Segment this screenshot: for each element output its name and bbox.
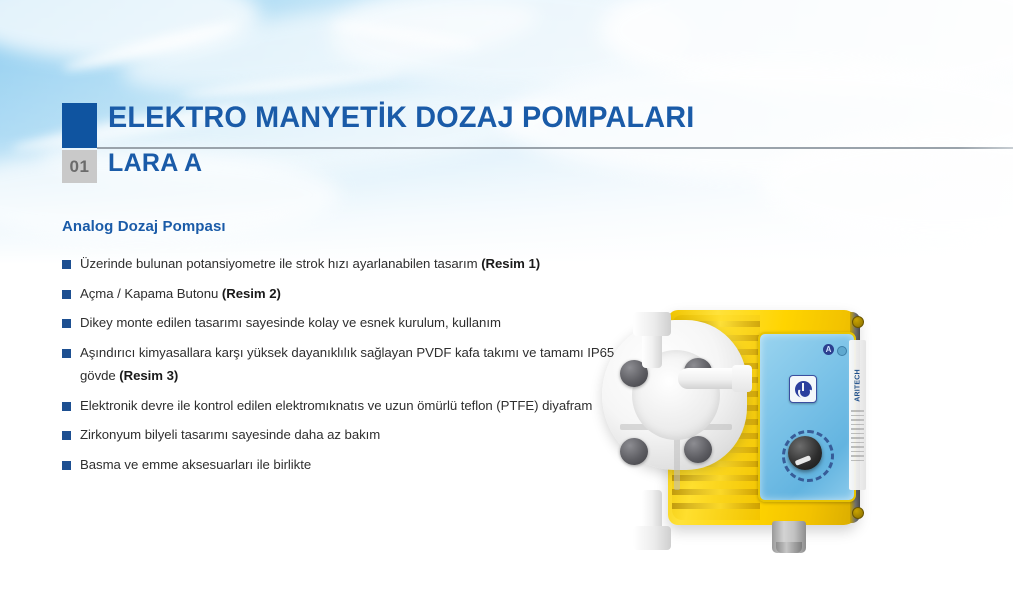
- product-model-title: LARA A: [108, 149, 202, 178]
- head-bolt: [620, 438, 648, 465]
- list-item: Elektronik devre ile kontrol edilen elek…: [62, 395, 622, 418]
- dosing-pump-photo: A ARITECH: [600, 285, 900, 570]
- label-spec-lines: [851, 410, 864, 464]
- list-item-emphasis: (Resim 3): [119, 368, 178, 383]
- auto-mode-led-icon: A: [823, 344, 834, 355]
- stroke-rate-knob[interactable]: [788, 436, 822, 470]
- list-item: Aşındırıcı kimyasallara karşı yüksek day…: [62, 342, 622, 387]
- list-item-text: Üzerinde bulunan potansiyometre ile stro…: [80, 256, 481, 271]
- brand-label-text: ARITECH: [855, 366, 862, 406]
- list-item: Basma ve emme aksesuarları ile birlikte: [62, 454, 622, 477]
- list-item: Zirkonyum bilyeli tasarımı sayesinde dah…: [62, 424, 622, 447]
- control-panel: A: [758, 332, 856, 502]
- list-item-text: Dikey monte edilen tasarımı sayesinde ko…: [80, 315, 501, 330]
- page-title: ELEKTRO MANYETİK DOZAJ POMPALARI: [108, 101, 694, 135]
- list-item: Üzerinde bulunan potansiyometre ile stro…: [62, 253, 622, 276]
- list-item-emphasis: (Resim 2): [222, 286, 281, 301]
- status-led-icon: [837, 346, 847, 356]
- list-item-text: Açma / Kapama Butonu: [80, 286, 222, 301]
- product-side-label: ARITECH: [849, 340, 866, 490]
- header-accent-square: [62, 103, 97, 148]
- list-item-text: Elektronik devre ile kontrol edilen elek…: [80, 398, 592, 413]
- head-bolt: [684, 436, 712, 463]
- power-button[interactable]: [789, 375, 817, 403]
- feature-list: Üzerinde bulunan potansiyometre ile stro…: [62, 253, 622, 484]
- discharge-port-cap: [633, 312, 671, 336]
- cable-gland: [772, 521, 806, 553]
- bleed-port-cap: [732, 365, 752, 392]
- list-item-text: Basma ve emme aksesuarları ile birlikte: [80, 457, 311, 472]
- list-item: Açma / Kapama Butonu (Resim 2): [62, 283, 622, 306]
- list-item: Dikey monte edilen tasarımı sayesinde ko…: [62, 312, 622, 335]
- suction-port-cap: [633, 526, 671, 550]
- pump-head: [602, 320, 747, 470]
- section-number-badge: 01: [62, 150, 97, 183]
- housing-screw-icon: [852, 507, 864, 519]
- list-item-emphasis: (Resim 1): [481, 256, 540, 271]
- list-item-text: Zirkonyum bilyeli tasarımı sayesinde dah…: [80, 427, 380, 442]
- housing-screw-icon: [852, 316, 864, 328]
- header-divider: [97, 147, 1013, 149]
- power-icon: [795, 381, 812, 398]
- section-subtitle: Analog Dozaj Pompası: [62, 218, 226, 235]
